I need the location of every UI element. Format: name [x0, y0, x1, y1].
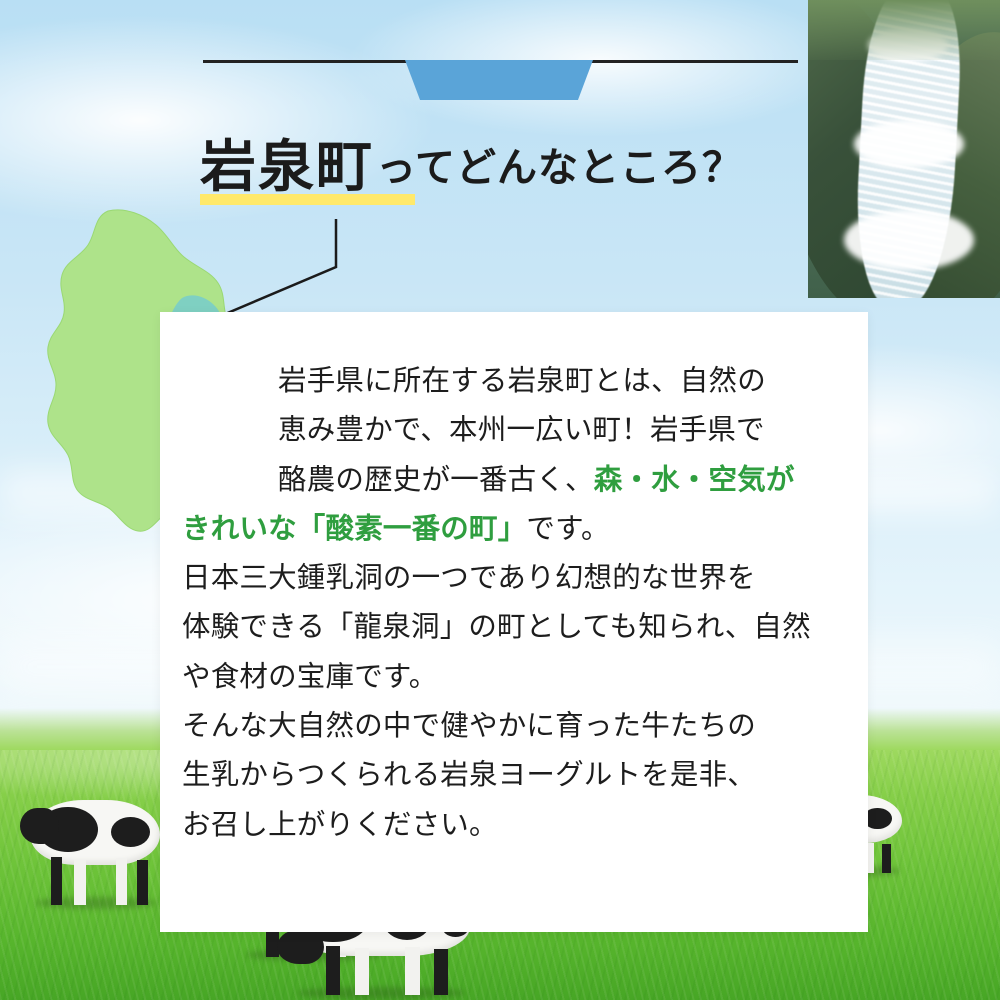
description-text: 日本三大鍾乳洞の一つであり幻想的な世界を — [182, 561, 756, 594]
description-text: 岩手県に所在する岩泉町とは、自然の — [278, 364, 766, 397]
description-text: 酪農の歴史が一番古く、 — [278, 463, 594, 496]
photo-moss — [808, 0, 1000, 60]
title-underline — [200, 194, 415, 205]
description-text: お召し上がりください。 — [182, 808, 498, 841]
page-title-main: 岩泉町 — [200, 134, 374, 200]
cow-leg — [405, 947, 419, 995]
description-line: お召し上がりください。 — [182, 800, 834, 849]
description-line: 日本三大鍾乳洞の一つであり幻想的な世界を — [182, 553, 834, 602]
poster-root: waterfall-photo 岩泉町 ってどんなところ？ 岩手県に所在する岩泉… — [0, 0, 1000, 1000]
cow-leg — [51, 857, 63, 905]
cow-leg — [326, 946, 340, 995]
photo-foam — [854, 120, 964, 168]
description-card-inner: 岩手県に所在する岩泉町とは、自然の恵み豊かで、本州一広い町！岩手県で酪農の歴史が… — [160, 312, 868, 849]
cow-1 — [30, 800, 160, 905]
description-text: 体験できる「龍泉洞」の町としても知られ、自然 — [182, 610, 811, 643]
page-title: 岩泉町 ってどんなところ？ — [200, 135, 743, 199]
cow-head — [20, 808, 59, 844]
description-text: です。 — [526, 512, 609, 545]
description-line: 恵み豊かで、本州一広い町！岩手県で — [182, 405, 834, 454]
cow-leg — [882, 844, 891, 873]
description-text: そんな大自然の中で健やかに育った牛たちの — [182, 709, 756, 742]
cow-leg — [434, 949, 448, 995]
description-line: きれいな「酸素一番の町」です。 — [182, 504, 834, 553]
description-highlight-text: 森・水・空気が — [594, 463, 795, 496]
description-line: 岩手県に所在する岩泉町とは、自然の — [182, 356, 834, 405]
cow-patch — [111, 817, 150, 847]
page-title-main-wrap: 岩泉町 — [200, 139, 374, 199]
description-card: 岩手県に所在する岩泉町とは、自然の恵み豊かで、本州一広い町！岩手県で酪農の歴史が… — [160, 312, 868, 932]
cow-leg — [355, 948, 369, 995]
decorative-rule-left — [203, 60, 408, 63]
description-text: や食材の宝庫です。 — [182, 660, 437, 693]
page-title-sub: ってどんなところ？ — [376, 135, 743, 199]
cow-leg — [74, 859, 86, 905]
cow-leg — [116, 858, 128, 905]
description-text: 恵み豊かで、本州一広い町！岩手県で — [278, 413, 765, 446]
description-paragraph-list: 岩手県に所在する岩泉町とは、自然の恵み豊かで、本州一広い町！岩手県で酪農の歴史が… — [182, 356, 834, 849]
description-line: 生乳からつくられる岩泉ヨーグルトを是非、 — [182, 750, 834, 799]
cow-head — [277, 930, 324, 965]
description-line: 酪農の歴史が一番古く、森・水・空気が — [182, 455, 834, 504]
waterfall-photo: waterfall-photo — [808, 0, 1000, 298]
description-line: 体験できる「龍泉洞」の町としても知られ、自然 — [182, 602, 834, 651]
description-line: そんな大自然の中で健やかに育った牛たちの — [182, 701, 834, 750]
description-highlight-text: きれいな「酸素一番の町」 — [182, 512, 526, 545]
description-line: や食材の宝庫です。 — [182, 652, 834, 701]
decorative-tab — [405, 60, 593, 100]
decorative-rule-right — [590, 60, 798, 63]
map-leader-line — [198, 215, 338, 327]
cow-leg — [137, 860, 149, 905]
description-text: 生乳からつくられる岩泉ヨーグルトを是非、 — [182, 758, 756, 791]
photo-foam — [844, 210, 974, 270]
